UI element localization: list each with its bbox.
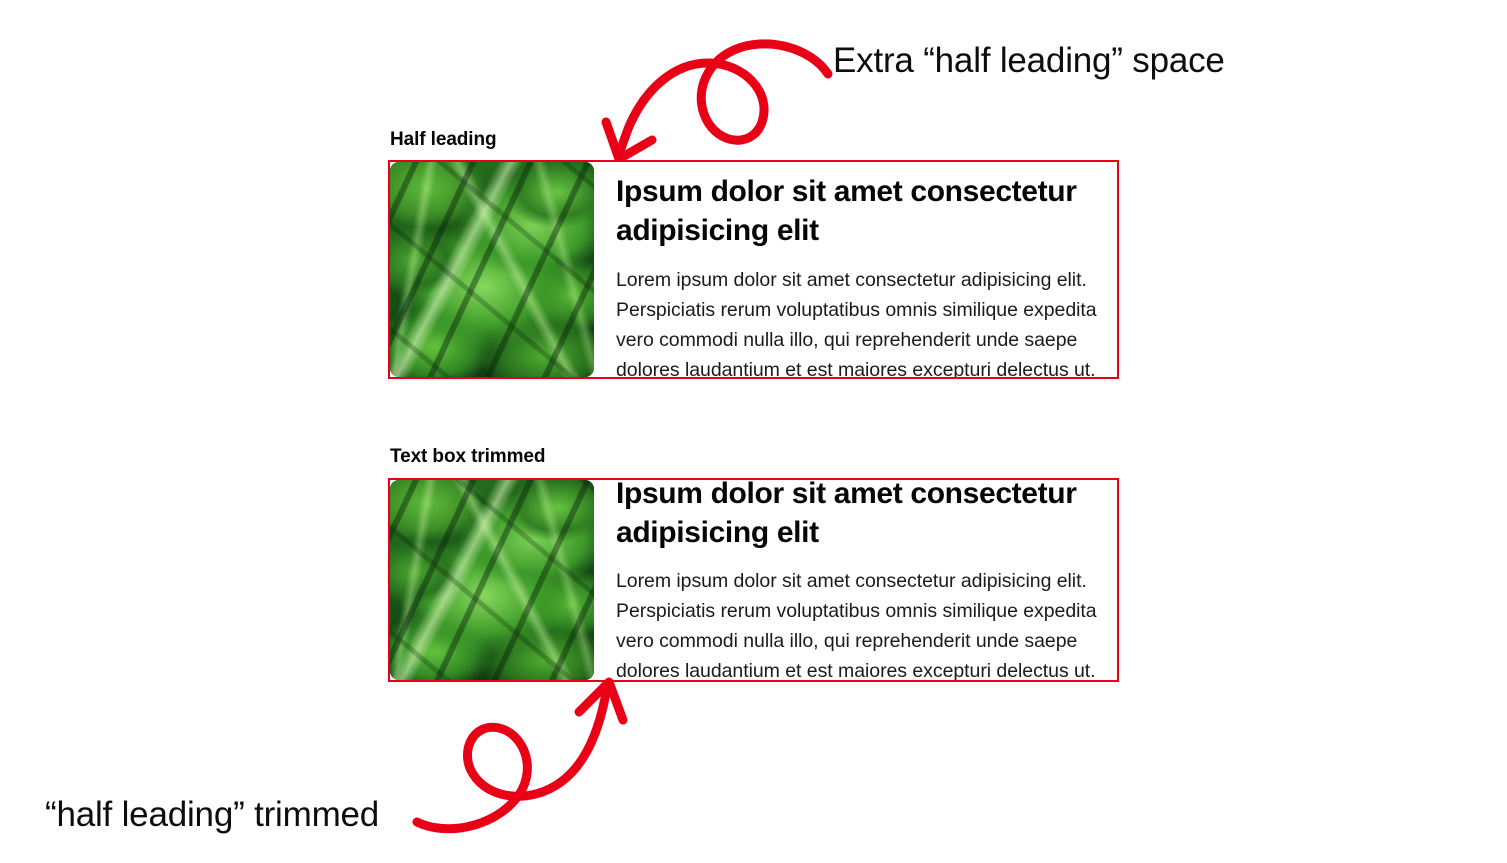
- card-paragraph-trimmed: Lorem ipsum dolor sit amet consectetur a…: [616, 566, 1103, 682]
- card-heading-trimmed: Ipsum dolor sit amet consectetur adipisi…: [616, 478, 1103, 552]
- annotation-label-top: Extra “half leading” space: [833, 41, 1225, 81]
- card-text-box-trimmed: Ipsum dolor sit amet consectetur adipisi…: [388, 478, 1119, 682]
- card-paragraph-half-leading: Lorem ipsum dolor sit amet consectetur a…: [616, 265, 1103, 379]
- annotation-arrow-top-icon: [596, 22, 856, 172]
- monstera-leaves-photo: [390, 480, 594, 680]
- card-text-block-half-leading: Ipsum dolor sit amet consectetur adipisi…: [594, 162, 1117, 379]
- annotation-arrow-bottom-icon: [415, 676, 670, 836]
- card-heading-half-leading: Ipsum dolor sit amet consectetur adipisi…: [616, 172, 1103, 250]
- diagram-canvas: Extra “half leading” space Half leading …: [0, 0, 1507, 863]
- section-label-half-leading: Half leading: [390, 129, 496, 151]
- card-text-block-trimmed: Ipsum dolor sit amet consectetur adipisi…: [594, 480, 1117, 679]
- annotation-label-bottom: “half leading” trimmed: [45, 795, 379, 835]
- card-thumbnail-half-leading: [390, 162, 594, 377]
- section-label-text-box-trimmed: Text box trimmed: [390, 446, 545, 468]
- monstera-leaves-photo: [390, 162, 594, 377]
- card-thumbnail-trimmed: [390, 480, 594, 680]
- card-half-leading: Ipsum dolor sit amet consectetur adipisi…: [388, 160, 1119, 379]
